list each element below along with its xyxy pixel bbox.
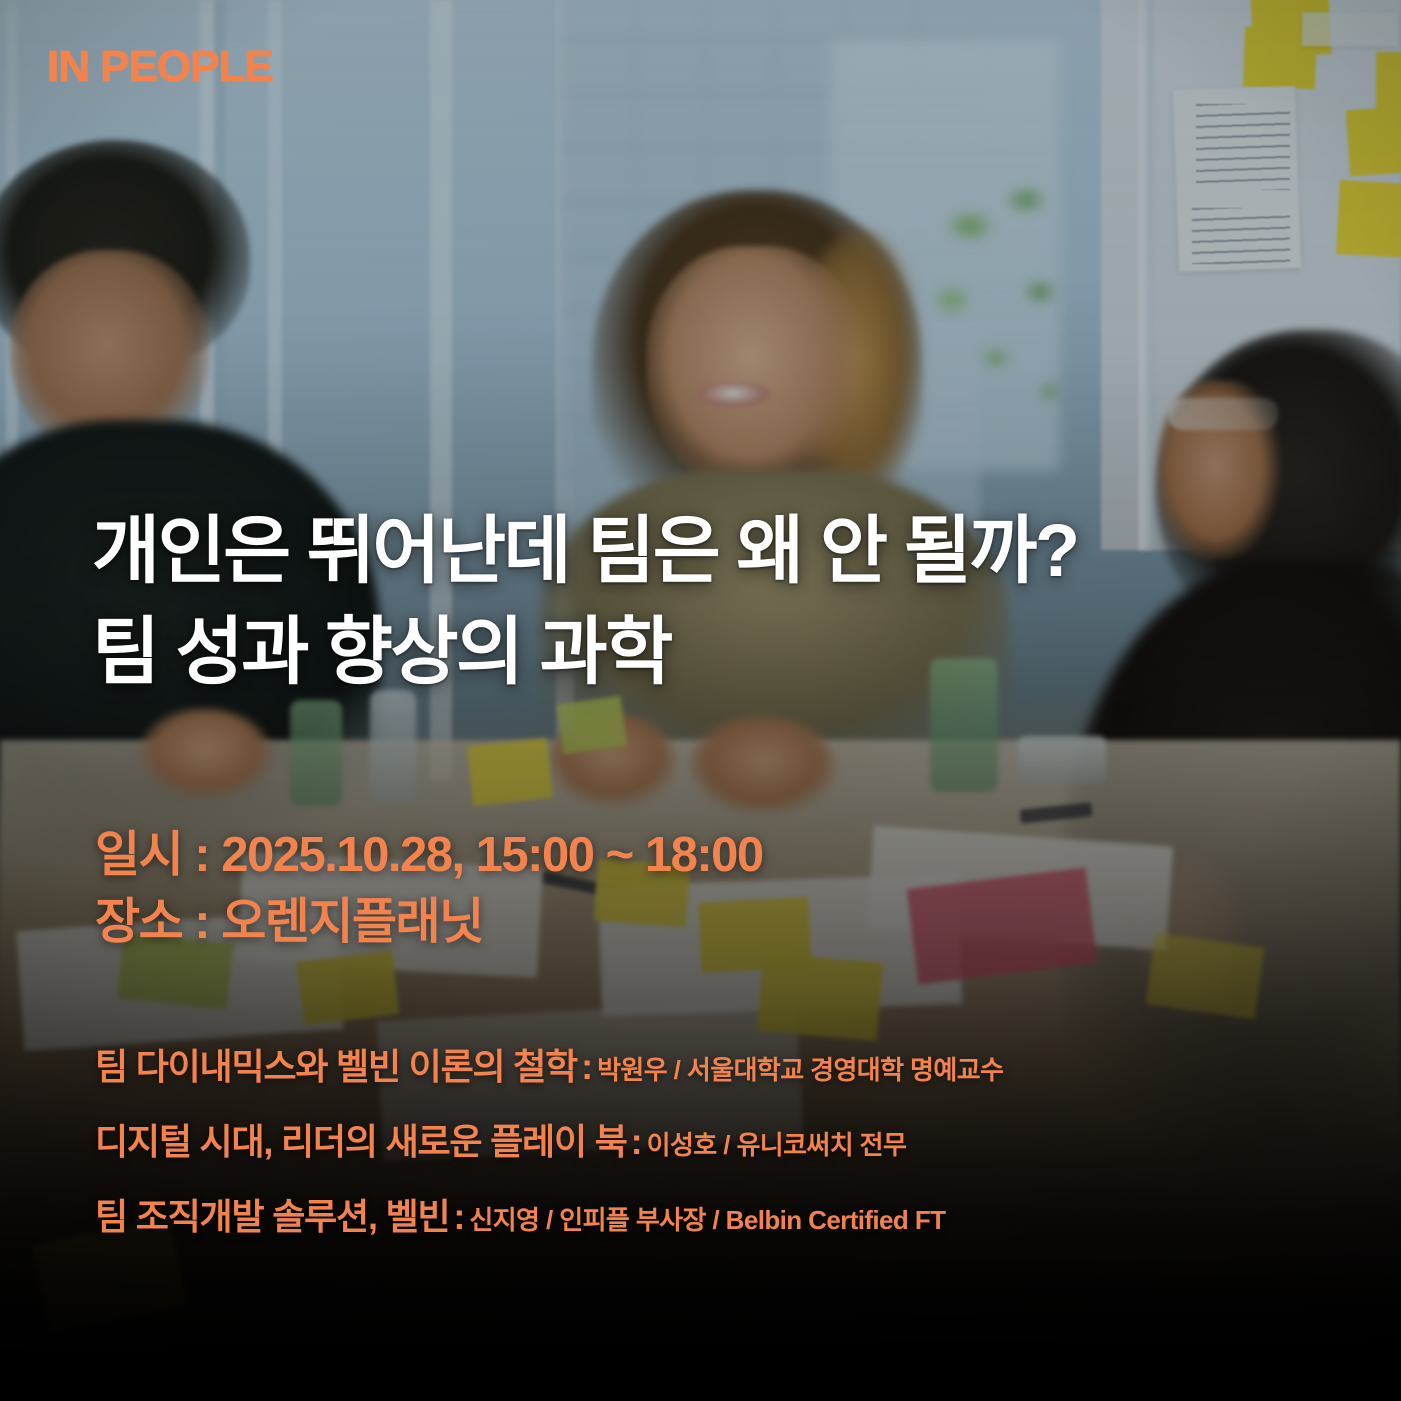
title-line-1: 개인은 뛰어난데 팀은 왜 안 될까? xyxy=(92,509,1078,592)
session-row: 팀 다이내믹스와 벨빈 이론의 철학:박원우 / 서울대학교 경영대학 명예교수 xyxy=(95,1038,1355,1090)
poster-content: IN PEOPLE 개인은 뛰어난데 팀은 왜 안 될까? 팀 성과 향상의 과… xyxy=(0,0,1401,1401)
event-date-line: 일시 : 2025.10.28, 15:00 ~ 18:00 xyxy=(95,822,763,889)
session-speaker: 신지영 / 인피플 부사장 / Belbin Certified FT xyxy=(469,1205,945,1235)
session-speaker: 박원우 / 서울대학교 경영대학 명예교수 xyxy=(597,1055,1003,1085)
event-info: 일시 : 2025.10.28, 15:00 ~ 18:00 장소 : 오렌지플… xyxy=(95,822,763,956)
session-speaker: 이성호 / 유니코써치 전무 xyxy=(647,1130,907,1160)
page-title: 개인은 뛰어난데 팀은 왜 안 될까? 팀 성과 향상의 과학 xyxy=(92,500,1078,702)
session-topic: 팀 다이내믹스와 벨빈 이론의 철학 xyxy=(95,1046,577,1087)
event-place-line: 장소 : 오렌지플래닛 xyxy=(95,889,763,956)
event-poster: IN PEOPLE 개인은 뛰어난데 팀은 왜 안 될까? 팀 성과 향상의 과… xyxy=(0,0,1401,1401)
session-list: 팀 다이내믹스와 벨빈 이론의 철학:박원우 / 서울대학교 경영대학 명예교수… xyxy=(95,1038,1355,1263)
session-topic: 팀 조직개발 솔루션, 벨빈 xyxy=(95,1196,449,1237)
session-topic: 디지털 시대, 리더의 새로운 플레이 북 xyxy=(95,1121,627,1162)
session-row: 디지털 시대, 리더의 새로운 플레이 북:이성호 / 유니코써치 전무 xyxy=(95,1113,1355,1165)
session-separator: : xyxy=(627,1121,647,1162)
session-separator: : xyxy=(577,1046,597,1087)
session-separator: : xyxy=(449,1196,469,1237)
brand-logo: IN PEOPLE xyxy=(47,42,273,92)
session-row: 팀 조직개발 솔루션, 벨빈:신지영 / 인피플 부사장 / Belbin Ce… xyxy=(95,1188,1355,1240)
title-line-2: 팀 성과 향상의 과학 xyxy=(92,601,1078,702)
